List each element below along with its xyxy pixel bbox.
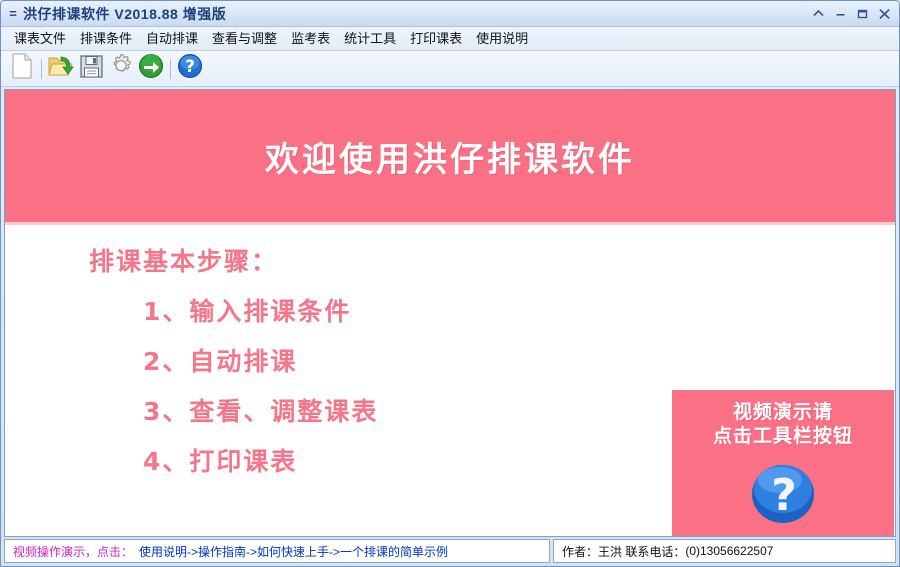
window-title: 洪仔排课软件 V2018.88 增强版 [23,4,226,24]
toolbar-separator-2 [166,57,175,81]
settings-button[interactable] [106,54,136,84]
auto-schedule-button[interactable] [136,54,166,84]
status-hint-path[interactable]: 使用说明->操作指南->如何快速上手->一个排课的简单示例 [139,543,448,560]
status-hint-prefix: 视频操作演示，点击： [13,543,133,560]
menu-item-tongjigongju[interactable]: 统计工具 [337,29,403,49]
menu-item-shiyongshuoming[interactable]: 使用说明 [469,29,535,49]
blue-question-ball-icon[interactable]: ? [750,460,816,531]
save-button[interactable] [76,54,106,84]
steps-panel: 排课基本步骤： 1、输入排课条件 2、自动排课 3、查看、调整课表 4、打印课表 [89,242,378,478]
maximize-button[interactable] [851,5,873,23]
step-item-4: 4、打印课表 [143,442,378,478]
menu-item-dayinkebiao[interactable]: 打印课表 [403,29,469,49]
menu-item-jiankaobiao[interactable]: 监考表 [284,29,337,49]
svg-text:?: ? [185,57,195,77]
title-bar: = 洪仔排课软件 V2018.88 增强版 [1,1,899,27]
promo-line-1: 视频演示请 [733,400,833,424]
close-button[interactable] [873,5,895,23]
toolbar: ? [1,51,899,87]
open-folder-button[interactable] [46,54,76,84]
help-video-button[interactable]: ? [175,54,205,84]
menu-item-zidongpaike[interactable]: 自动排课 [139,29,205,49]
gear-settings-icon [108,53,134,84]
promo-line-2: 点击工具栏按钮 [713,424,853,448]
welcome-banner: 欢迎使用洪仔排课软件 [5,90,895,222]
system-menu-icon[interactable]: = [6,7,20,21]
status-author: 作者：王洪 联系电话： (0)13056622507 [553,539,896,563]
svg-text:?: ? [771,470,797,521]
menu-item-chakanyutiaozheng[interactable]: 查看与调整 [205,29,284,49]
minimize-button[interactable] [829,5,851,23]
status-author-phone: (0)13056622507 [685,544,773,558]
new-file-button[interactable] [7,54,37,84]
application-window: = 洪仔排课软件 V2018.88 增强版 课表文件 排课条件 自动排课 查看与… [0,0,900,567]
green-arrow-icon [138,53,164,84]
help-question-icon: ? [177,53,203,84]
banner-divider [5,222,895,225]
client-area: 欢迎使用洪仔排课软件 排课基本步骤： 1、输入排课条件 2、自动排课 3、查看、… [4,89,896,537]
rollup-button[interactable] [807,5,829,23]
toolbar-separator [37,57,46,81]
save-floppy-icon [79,54,104,84]
step-item-3: 3、查看、调整课表 [143,392,378,428]
menu-item-paiketiaojian[interactable]: 排课条件 [73,29,139,49]
video-promo-panel[interactable]: 视频演示请 点击工具栏按钮 ? [672,390,894,536]
steps-title: 排课基本步骤： [89,242,378,278]
status-bar: 视频操作演示，点击： 使用说明->操作指南->如何快速上手->一个排课的简单示例… [4,539,896,563]
menu-item-kebiaowenjian[interactable]: 课表文件 [7,29,73,49]
menu-bar: 课表文件 排课条件 自动排课 查看与调整 监考表 统计工具 打印课表 使用说明 [1,27,899,51]
status-author-label: 作者：王洪 联系电话： [562,543,685,560]
open-folder-icon [48,53,75,84]
new-file-icon [10,53,34,84]
step-item-2: 2、自动排课 [143,342,378,378]
welcome-banner-text: 欢迎使用洪仔排课软件 [265,132,635,181]
step-item-1: 1、输入排课条件 [143,292,378,328]
status-video-hint[interactable]: 视频操作演示，点击： 使用说明->操作指南->如何快速上手->一个排课的简单示例 [4,539,550,563]
window-controls [807,1,895,26]
